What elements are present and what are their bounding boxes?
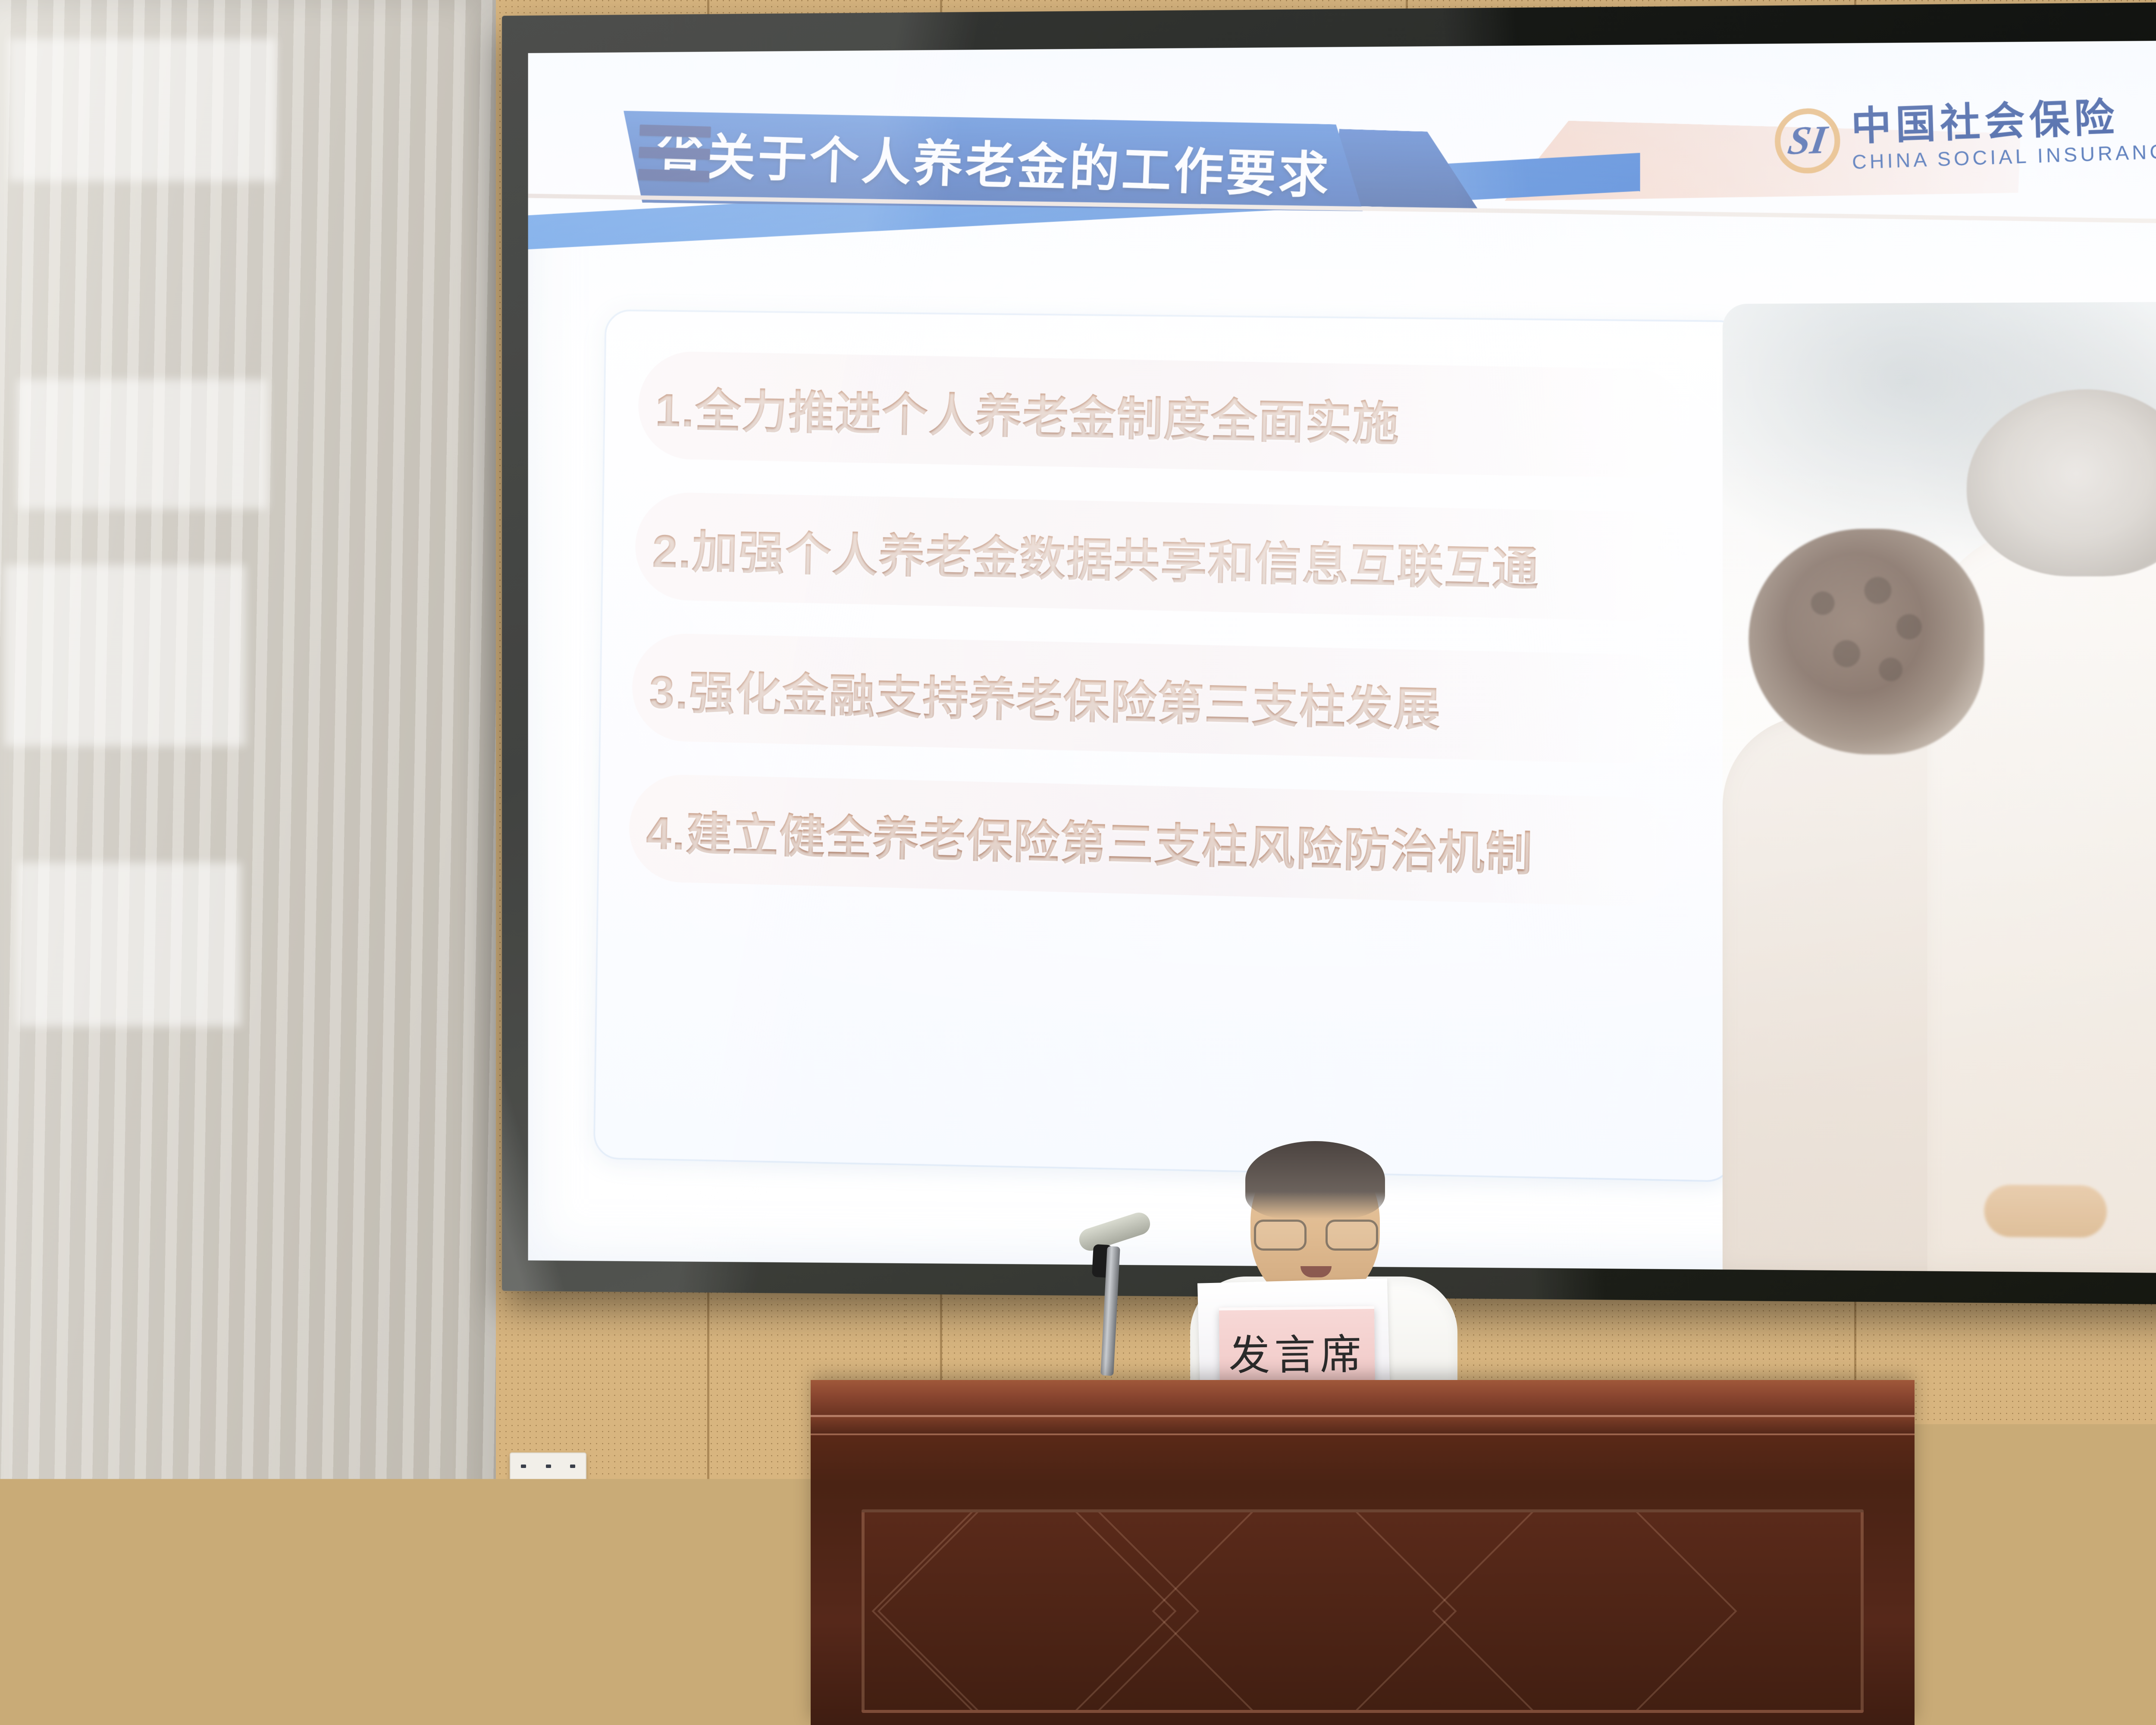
photo-hands (1984, 1185, 2106, 1238)
csi-circle-logo-icon (1774, 107, 1841, 175)
wall-outlet-plate-left[interactable] (510, 1452, 586, 1482)
nameplate-label: 发言席 (1228, 1320, 1366, 1382)
projection-screen-frame: 省关于个人养老金的工作要求 中国社会保险 CHINA SOCIAL INSURA… (502, 1, 2156, 1305)
brand-name-cn: 中国社会保险 (1851, 95, 2156, 147)
bullet-list: 1.全力推进个人养老金制度全面实施 2.加强个人养老金数据共享和信息互联互通 3… (607, 335, 1742, 927)
podium-diamond-motif (871, 1509, 1176, 1713)
podium-front-panel (862, 1509, 1864, 1713)
list-item: 1.全力推进个人养老金制度全面实施 (616, 335, 1742, 498)
presentation-slide: 省关于个人养老金的工作要求 中国社会保险 CHINA SOCIAL INSURA… (528, 40, 2156, 1273)
podium-diamond-motif (1432, 1509, 1737, 1713)
list-item: 3.强化金融支持养老保险第三支柱发展 (610, 617, 1736, 784)
hamburger-icon (638, 125, 711, 193)
wall-outlet-plate-right-a[interactable] (2147, 1457, 2156, 1483)
speaker-hair (1245, 1141, 1385, 1219)
page-title: 省关于个人养老金的工作要求 (653, 115, 1332, 208)
podium-top-surface (811, 1380, 1915, 1417)
eyeglasses-icon (1253, 1220, 1379, 1247)
elderly-couple-photo: S□ (1723, 301, 2156, 1273)
scene-root: 省关于个人养老金的工作要求 中国社会保险 CHINA SOCIAL INSURA… (0, 0, 2156, 1725)
photo-woman-hair (1749, 529, 1984, 755)
window-curtain (0, 0, 496, 1535)
list-item: 4.建立健全养老保险第三支柱风险防治机制 (607, 758, 1733, 927)
photo-man-hair (1967, 389, 2156, 577)
podium-lip (811, 1417, 1915, 1435)
podium-diamond-motif (1152, 1509, 1457, 1713)
list-item: 2.加强个人养老金数据共享和信息互联互通 (613, 476, 1739, 641)
podium (811, 1380, 1915, 1725)
